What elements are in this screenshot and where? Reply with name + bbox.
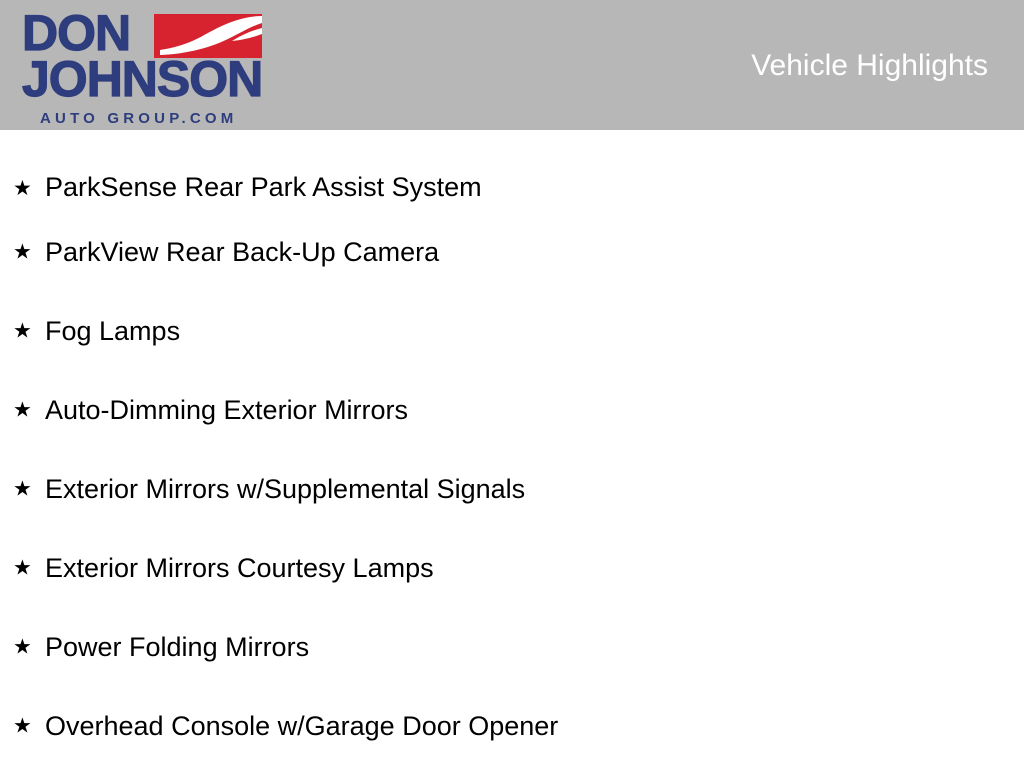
logo-tagline-text: AUTO GROUP.COM bbox=[40, 110, 237, 128]
list-item: ★ ParkView Rear Back-Up Camera bbox=[0, 212, 1024, 291]
list-item-label: ParkView Rear Back-Up Camera bbox=[45, 237, 439, 267]
list-item: ★ Exterior Mirrors Courtesy Lamps bbox=[0, 528, 1024, 607]
list-item: ★ Exterior Mirrors w/Supplemental Signal… bbox=[0, 449, 1024, 528]
list-item-label: ParkSense Rear Park Assist System bbox=[45, 172, 482, 202]
star-icon: ★ bbox=[13, 399, 32, 420]
list-item: ★ Auto-Dimming Exterior Mirrors bbox=[0, 370, 1024, 449]
star-icon: ★ bbox=[13, 241, 32, 262]
vehicle-highlights-list: ★ ParkSense Rear Park Assist System ★ Pa… bbox=[0, 130, 1024, 765]
list-item-label: Auto-Dimming Exterior Mirrors bbox=[45, 395, 408, 425]
page-title: Vehicle Highlights bbox=[751, 48, 988, 84]
list-item-label: Power Folding Mirrors bbox=[45, 632, 309, 662]
list-item-label: Overhead Console w/Garage Door Opener bbox=[45, 711, 558, 741]
vehicle-highlights-page: DON JOHNSON AUTO GROUP.COM Vehicle Highl… bbox=[0, 0, 1024, 768]
list-item: ★ Power Folding Mirrors bbox=[0, 607, 1024, 686]
list-item-label: Fog Lamps bbox=[45, 316, 180, 346]
star-icon: ★ bbox=[13, 178, 32, 199]
header-bar: DON JOHNSON AUTO GROUP.COM Vehicle Highl… bbox=[0, 0, 1024, 130]
list-item: ★ ParkSense Rear Park Assist System bbox=[0, 130, 1024, 212]
dealer-logo[interactable]: DON JOHNSON AUTO GROUP.COM bbox=[14, 6, 262, 128]
list-item-label: Exterior Mirrors Courtesy Lamps bbox=[45, 553, 434, 583]
star-icon: ★ bbox=[13, 557, 32, 578]
star-icon: ★ bbox=[13, 636, 32, 657]
logo-johnson-text: JOHNSON bbox=[22, 53, 262, 105]
list-item-label: Exterior Mirrors w/Supplemental Signals bbox=[45, 474, 525, 504]
star-icon: ★ bbox=[13, 715, 32, 736]
list-item: ★ Overhead Console w/Garage Door Opener bbox=[0, 686, 1024, 765]
star-icon: ★ bbox=[13, 478, 32, 499]
star-icon: ★ bbox=[13, 320, 32, 341]
list-item: ★ Fog Lamps bbox=[0, 291, 1024, 370]
